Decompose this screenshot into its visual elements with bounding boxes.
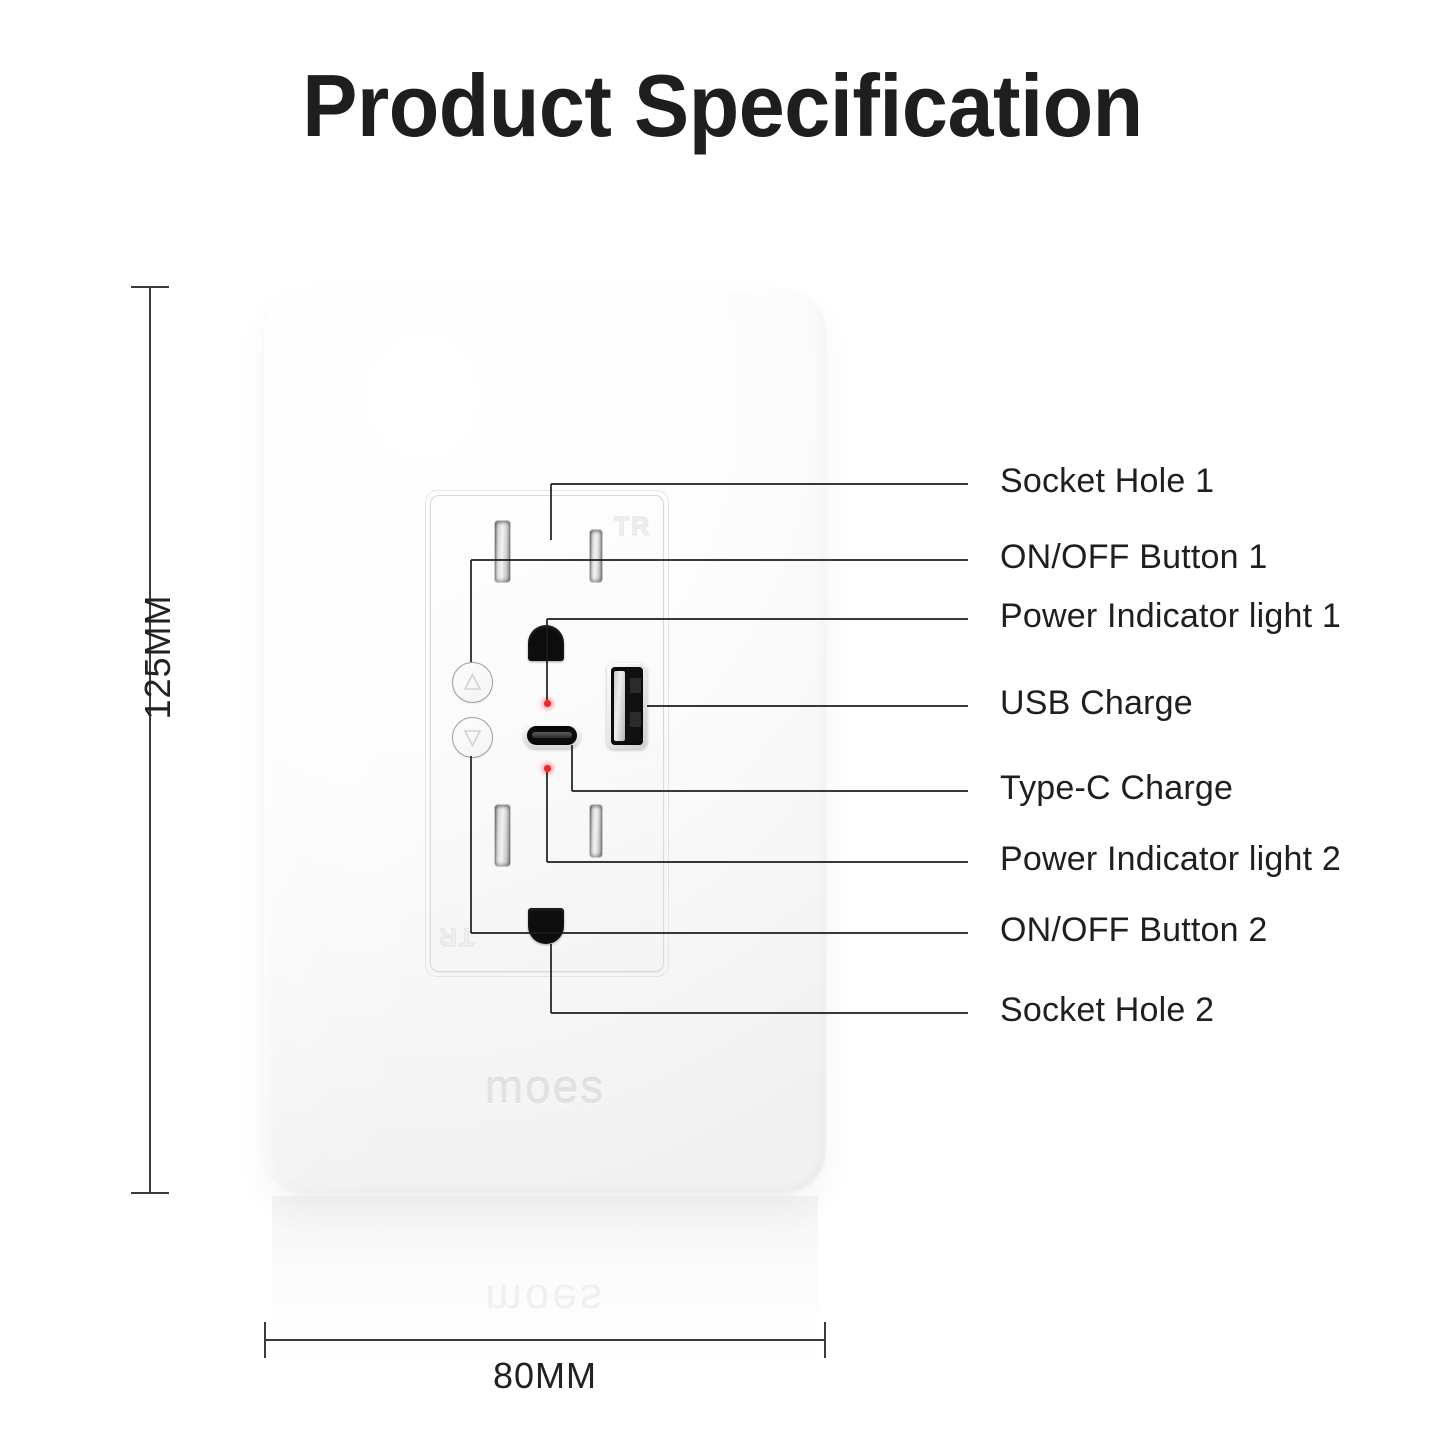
socket-slot-neutral-top [495,521,510,582]
callout-on-off-button-2: ON/OFF Button 2 [1000,911,1268,950]
power-indicator-light-1 [544,700,551,707]
on-off-button-1[interactable] [452,662,493,703]
socket-ground-hole-1 [528,625,564,661]
socket-slot-hot-top [590,530,602,582]
callout-usb-charge: USB Charge [1000,684,1193,723]
callout-power-indicator-light-1: Power Indicator light 1 [1000,597,1341,636]
callout-socket-hole-1: Socket Hole 1 [1000,462,1214,501]
callout-socket-hole-2: Socket Hole 2 [1000,991,1214,1030]
socket-slot-hot-bottom [590,805,602,857]
callout-on-off-button-1: ON/OFF Button 1 [1000,538,1268,577]
socket-slot-neutral-bottom [495,805,510,866]
triangle-down-icon [453,718,492,757]
height-dimension-label: 125MM [137,577,179,737]
width-dimension-label: 80MM [265,1355,825,1397]
tamper-resistant-mark-bottom: TR [437,921,474,950]
usb-a-port-contact-lower [630,712,641,727]
socket-ground-hole-2 [528,908,564,944]
tamper-resistant-mark-top: TR [614,513,651,542]
brand-logo: moes [264,1060,826,1114]
type-c-port-tongue [532,732,572,738]
usb-a-port-tongue [614,671,625,741]
callout-type-c-charge: Type-C Charge [1000,769,1233,808]
usb-a-port-contact-upper [630,678,641,693]
triangle-up-icon [453,663,492,702]
power-indicator-light-2 [544,765,551,772]
reflection-logo: moes [272,1274,818,1324]
callout-power-indicator-light-2: Power Indicator light 2 [1000,840,1341,879]
page-title: Product Specification [43,60,1401,152]
product-specification-diagram: Product Specification moes TR TR m [0,0,1445,1445]
on-off-button-2[interactable] [452,717,493,758]
